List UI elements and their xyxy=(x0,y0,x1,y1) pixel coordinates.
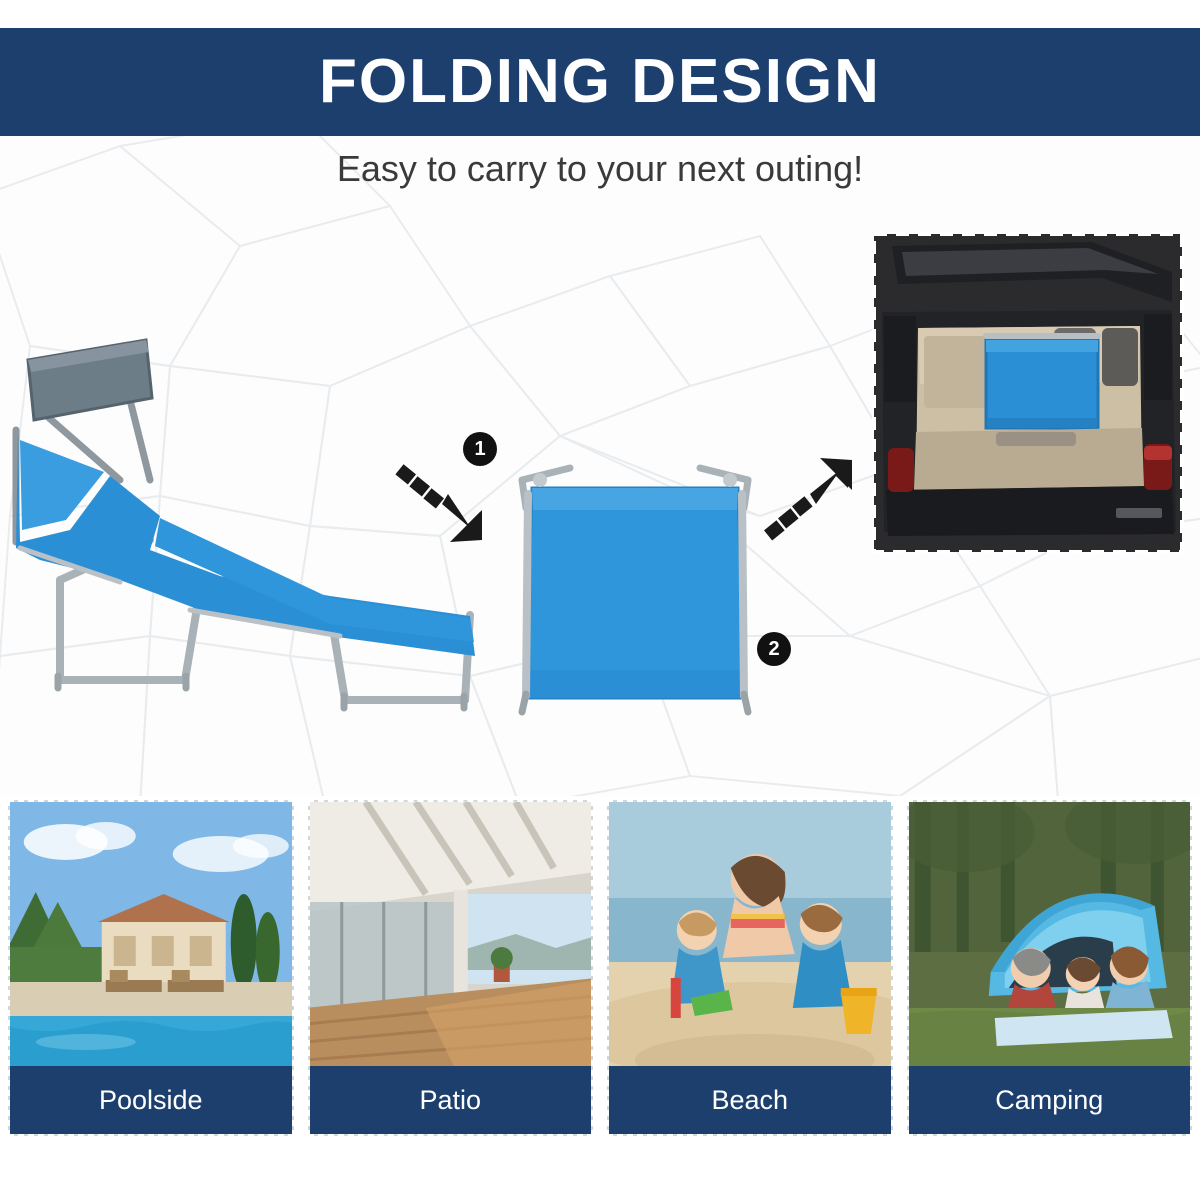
header-banner: FOLDING DESIGN xyxy=(0,28,1200,136)
suv-trunk xyxy=(872,232,1184,554)
poolside-photo xyxy=(10,802,292,1070)
thumb-beach[interactable]: Beach xyxy=(607,800,893,1136)
page-title: FOLDING DESIGN xyxy=(319,51,881,113)
beach-photo xyxy=(609,802,891,1070)
patio-caption: Patio xyxy=(310,1066,592,1134)
thumb-poolside[interactable]: Poolside xyxy=(8,800,294,1136)
thumb-patio[interactable]: Patio xyxy=(308,800,594,1136)
beach-caption: Beach xyxy=(609,1066,891,1134)
lounger-folded xyxy=(500,450,770,750)
product-infographic: FOLDING DESIGN Easy to carry to your nex… xyxy=(0,0,1200,1200)
arrow-step-one xyxy=(390,450,500,560)
patio-photo xyxy=(310,802,592,1070)
arrow-step-two xyxy=(760,450,870,560)
illustration-area: 1 xyxy=(0,200,1200,796)
camping-caption: Camping xyxy=(909,1066,1191,1134)
poolside-caption: Poolside xyxy=(10,1066,292,1134)
page-subtitle: Easy to carry to your next outing! xyxy=(0,148,1200,190)
step-two-badge: 2 xyxy=(757,632,791,666)
camping-photo xyxy=(909,802,1191,1070)
step-one-badge: 1 xyxy=(463,432,497,466)
use-case-gallery: Poolside xyxy=(0,800,1200,1140)
thumb-camping[interactable]: Camping xyxy=(907,800,1193,1136)
